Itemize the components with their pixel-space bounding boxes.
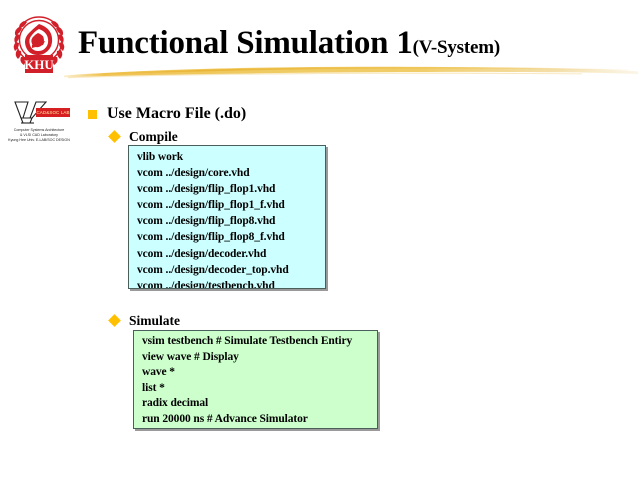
code-line: vcom ../design/flip_flop1_f.vhd bbox=[137, 197, 320, 213]
slide-canvas: KHU Functional Simulation 1(V-System) bbox=[0, 0, 640, 480]
code-line: run 20000 ns # Advance Simulator bbox=[142, 412, 372, 428]
section-heading-compile: Compile bbox=[129, 128, 178, 145]
bullet-compile: Compile bbox=[110, 128, 178, 145]
code-line: vcom ../design/flip_flop8.vhd bbox=[137, 213, 320, 229]
code-line: vlib work bbox=[137, 149, 320, 165]
bullet-simulate: Simulate bbox=[110, 312, 180, 329]
section-heading-simulate: Simulate bbox=[129, 312, 180, 329]
square-bullet-icon bbox=[88, 110, 97, 119]
code-line: vsim testbench # Simulate Testbench Enti… bbox=[142, 334, 372, 350]
code-line: vcom ../design/decoder_top.vhd bbox=[137, 262, 320, 278]
code-line: list * bbox=[142, 381, 372, 397]
code-line: vcom ../design/testbench.vhd bbox=[137, 278, 320, 289]
code-line: radix decimal bbox=[142, 396, 372, 412]
compile-command-box: vlib work vcom ../design/core.vhd vcom .… bbox=[128, 145, 326, 289]
code-line: vcom ../design/flip_flop1.vhd bbox=[137, 181, 320, 197]
diamond-bullet-icon bbox=[108, 314, 121, 327]
bullet-use-macro-file: Use Macro File (.do) bbox=[88, 104, 246, 124]
bullet-level1-label: Use Macro File (.do) bbox=[107, 104, 246, 124]
code-line: vcom ../design/flip_flop8_f.vhd bbox=[137, 229, 320, 245]
simulate-command-box: vsim testbench # Simulate Testbench Enti… bbox=[133, 330, 378, 429]
code-line: wave * bbox=[142, 365, 372, 381]
slide-body: Use Macro File (.do) Compile vlib work v… bbox=[0, 0, 640, 480]
diamond-bullet-icon bbox=[108, 130, 121, 143]
code-line: view wave # Display bbox=[142, 350, 372, 366]
code-line: vcom ../design/decoder.vhd bbox=[137, 246, 320, 262]
code-line: vcom ../design/core.vhd bbox=[137, 165, 320, 181]
